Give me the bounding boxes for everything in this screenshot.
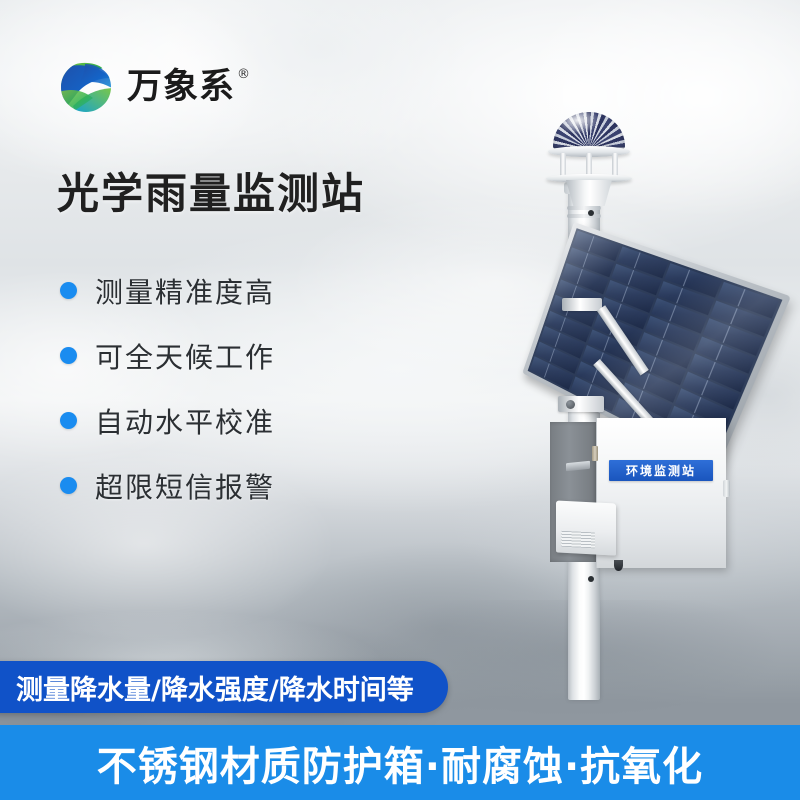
measurement-banner-text: 测量降水量/降水强度/降水时间等 (16, 668, 414, 707)
brand-name-wordmark: 万象系 ® (127, 70, 251, 105)
brand-name-text: 万象系 (127, 67, 235, 107)
control-cabinet: 环境监测站 (550, 418, 728, 573)
pole-bolt-icon (588, 210, 594, 216)
cabinet-accessory-box (556, 500, 616, 555)
pole-bolt-icon (588, 576, 594, 582)
pole-ring (567, 214, 601, 218)
bullet-dot-icon (60, 282, 77, 299)
cabinet-hinge-icon (592, 446, 598, 461)
panel-upper-clamp (562, 298, 602, 311)
trademark-symbol: ® (237, 68, 251, 81)
clamp-bolt-icon (566, 400, 575, 409)
optical-rain-sensor (544, 110, 634, 205)
panel-pole-clamp (558, 396, 604, 412)
list-item: 自动水平校准 (60, 388, 390, 453)
cabinet-latch-icon (723, 480, 730, 497)
measurement-banner: 测量降水量/降水强度/降水时间等 (0, 661, 448, 713)
bottom-banner: 不锈钢材质防护箱·耐腐蚀·抗氧化 (0, 725, 800, 800)
list-item: 超限短信报警 (60, 453, 390, 518)
bullet-dot-icon (60, 347, 77, 364)
cabinet-nameplate: 环境监测站 (609, 460, 713, 481)
sensor-support-post (612, 153, 618, 177)
list-item: 测量精准度高 (60, 258, 390, 323)
product-poster: 万象系 ® 光学雨量监测站 测量精准度高 可全天候工作 自动水平校准 超限短信报… (0, 0, 800, 800)
cabinet-bottom-knob-icon (614, 560, 623, 571)
pole-ring (567, 206, 601, 210)
bottom-banner-text: 不锈钢材质防护箱·耐腐蚀·抗氧化 (97, 734, 703, 792)
page-title: 光学雨量监测站 (57, 170, 365, 218)
feature-label: 可全天候工作 (95, 336, 275, 376)
globe-swirl-logo-icon (57, 58, 117, 116)
monitoring-station-equipment: 环境监测站 (500, 110, 790, 690)
cabinet-vent-icon (566, 461, 590, 472)
feature-label: 自动水平校准 (95, 401, 275, 441)
brand-logo: 万象系 ® (57, 58, 251, 116)
sensor-body-cone (566, 180, 612, 206)
feature-list: 测量精准度高 可全天候工作 自动水平校准 超限短信报警 (60, 258, 390, 518)
cabinet-nameplate-text: 环境监测站 (626, 462, 696, 479)
sensor-dome-icon (553, 112, 625, 150)
bullet-dot-icon (60, 412, 77, 429)
accessory-box-grill-icon (561, 531, 595, 549)
bullet-dot-icon (60, 477, 77, 494)
sensor-support-post (560, 153, 566, 177)
feature-label: 测量精准度高 (95, 271, 275, 311)
feature-label: 超限短信报警 (95, 466, 275, 506)
list-item: 可全天候工作 (60, 323, 390, 388)
